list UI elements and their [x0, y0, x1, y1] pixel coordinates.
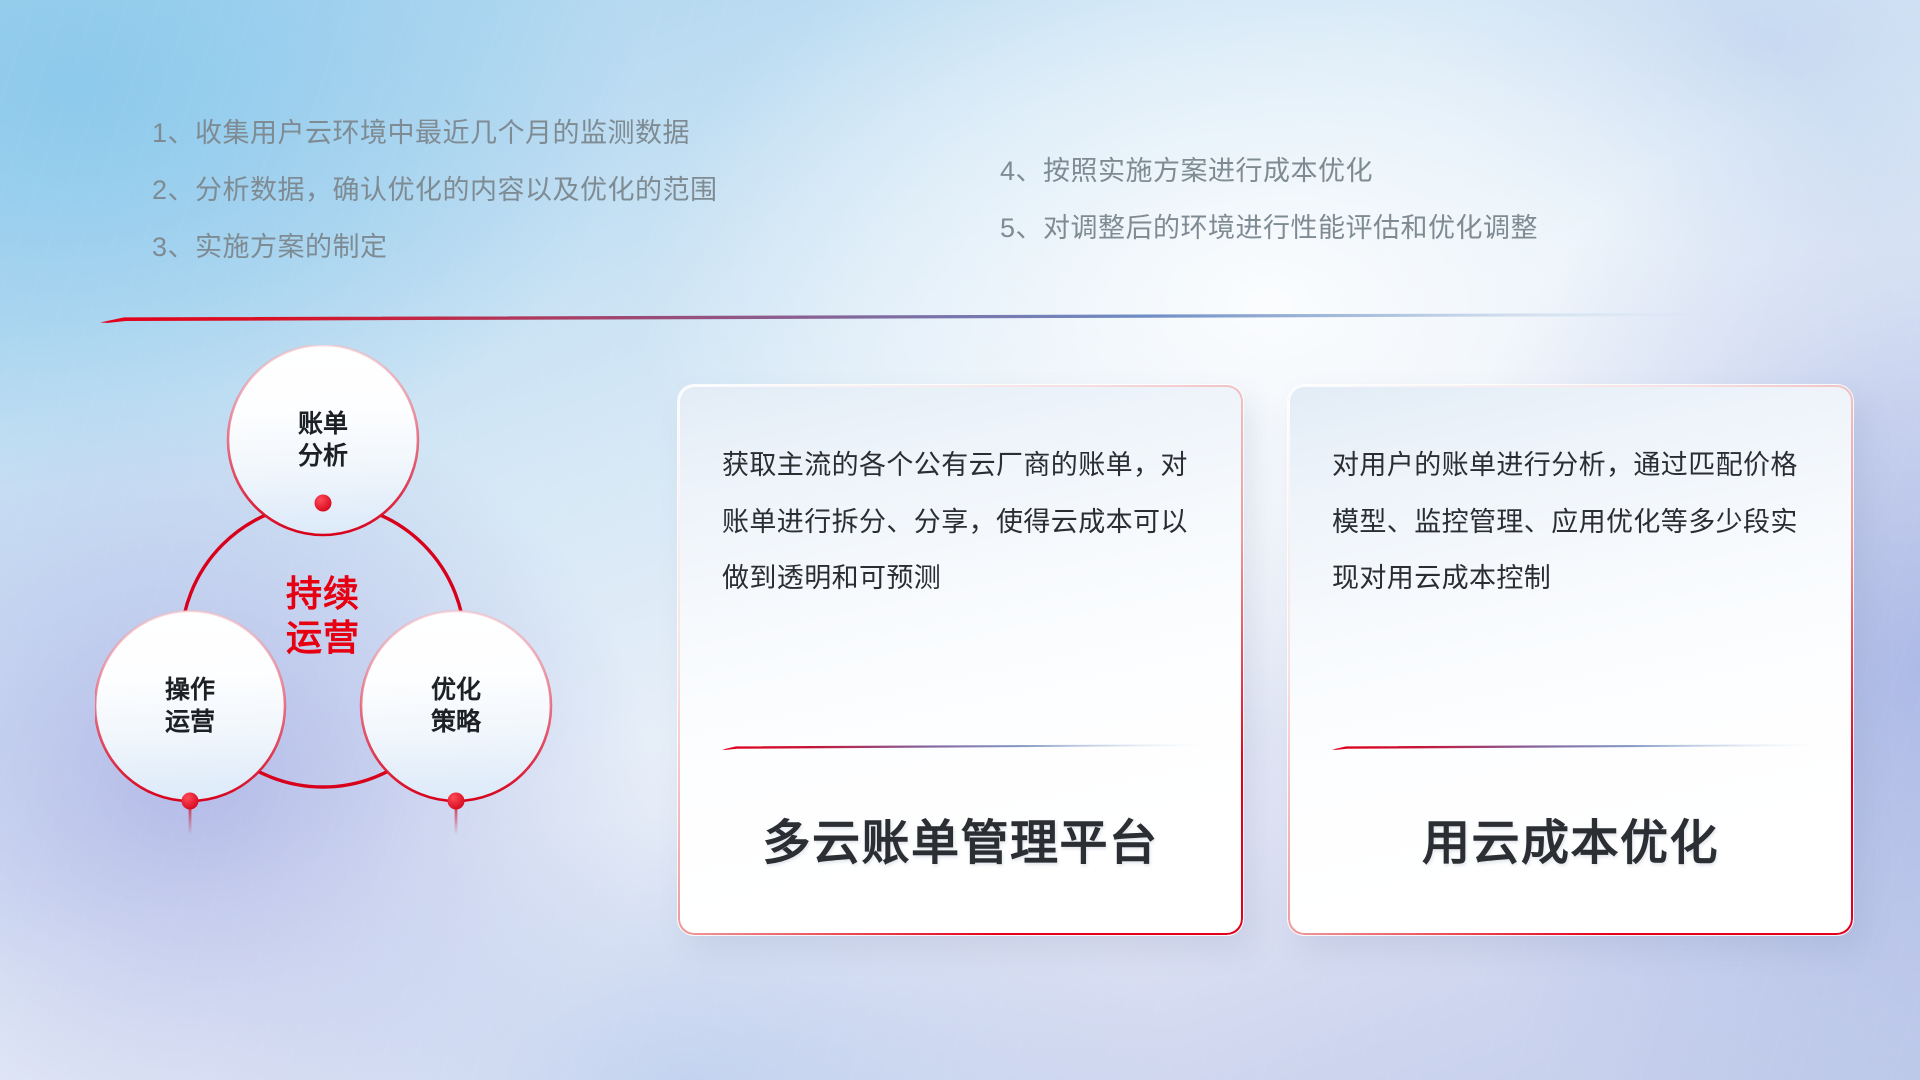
- section-divider-shape: [100, 311, 1690, 323]
- steps-list-right: 4、按照实施方案进行成本优化 5、对调整后的环境进行性能评估和优化调整: [1000, 158, 1538, 242]
- bubble-bill-analysis[interactable]: 账单 分析: [228, 345, 418, 535]
- step-item: 5、对调整后的环境进行性能评估和优化调整: [1000, 215, 1538, 242]
- step-item: 2、分析数据，确认优化的内容以及优化的范围: [152, 177, 718, 204]
- step-item: 4、按照实施方案进行成本优化: [1000, 158, 1538, 185]
- connector-stem-left: [189, 801, 192, 835]
- steps-list-left: 1、收集用户云环境中最近几个月的监测数据 2、分析数据，确认优化的内容以及优化的…: [152, 120, 718, 261]
- continuous-operation-diagram: 账单 分析 操作 运营 优化 策略: [95, 345, 625, 955]
- card-divider: [1332, 737, 1812, 744]
- center-label-line1: 持续: [256, 572, 390, 616]
- step-item: 3、实施方案的制定: [152, 234, 718, 261]
- bubble-label-line2: 运营: [165, 706, 215, 738]
- section-divider: [100, 310, 1690, 322]
- card-body-text: 获取主流的各个公有云厂商的账单，对账单进行拆分、分享，使得云成本可以做到透明和可…: [722, 437, 1199, 607]
- card-body-text: 对用户的账单进行分析，通过匹配价格模型、监控管理、应用优化等多少段实现对用云成本…: [1332, 437, 1809, 607]
- step-item: 1、收集用户云环境中最近几个月的监测数据: [152, 120, 718, 147]
- bubble-label-line2: 分析: [298, 440, 348, 472]
- diagram-center-label: 持续 运营: [256, 572, 390, 660]
- card-title: 多云账单管理平台: [678, 803, 1243, 873]
- bubble-label-line2: 策略: [431, 706, 481, 738]
- connector-stem-right: [455, 801, 458, 835]
- feature-card-multicloud-billing[interactable]: 获取主流的各个公有云厂商的账单，对账单进行拆分、分享，使得云成本可以做到透明和可…: [678, 385, 1243, 935]
- bubble-label-line1: 操作: [165, 674, 215, 706]
- center-label-line2: 运营: [256, 616, 390, 660]
- card-divider-shape: [722, 743, 1202, 750]
- bubble-label-line1: 优化: [431, 674, 481, 706]
- card-title: 用云成本优化: [1288, 803, 1853, 873]
- feature-card-cloud-cost-optimization[interactable]: 对用户的账单进行分析，通过匹配价格模型、监控管理、应用优化等多少段实现对用云成本…: [1288, 385, 1853, 935]
- slide-canvas: 1、收集用户云环境中最近几个月的监测数据 2、分析数据，确认优化的内容以及优化的…: [0, 0, 1920, 1080]
- bubble-label-line1: 账单: [298, 408, 348, 440]
- card-divider: [722, 737, 1202, 744]
- card-divider-shape: [1332, 743, 1812, 750]
